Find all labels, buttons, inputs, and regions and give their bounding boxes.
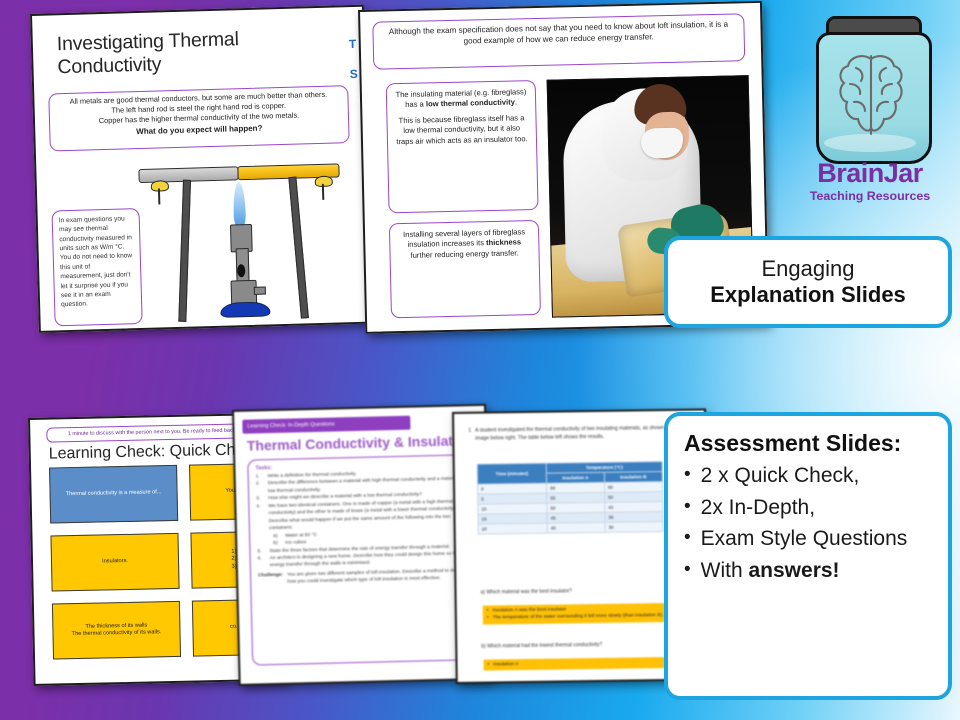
- cell-time: 20: [478, 523, 547, 534]
- callout-assessment-slides: Assessment Slides: • 2 x Quick Check, • …: [664, 412, 952, 700]
- stand-leg-left: [178, 180, 191, 322]
- callout-explanation-slides: Engaging Explanation Slides: [664, 236, 952, 328]
- slide1-title: Investigating Thermal Conductivity: [57, 26, 308, 78]
- slide2-bottom-note: Installing several layers of fibreglass …: [389, 220, 541, 318]
- exam-question-1: 1A student investigated the thermal cond…: [468, 425, 692, 444]
- slide1-side-letters: T S: [349, 29, 359, 89]
- in-depth-task-item: 4.We have two identical containers. One …: [256, 498, 473, 533]
- bunsen-air-hole: [237, 264, 245, 277]
- drawing-pin-right-stem: [322, 184, 324, 200]
- bullet-dot-icon: •: [684, 463, 691, 488]
- exam-part-a: a) Which material was the best insulator…: [480, 587, 694, 596]
- assessment-heading: Assessment Slides:: [684, 430, 932, 457]
- thermal-conductivity-experiment-diagram: [132, 149, 352, 325]
- slide1-letter-t: T: [349, 29, 358, 59]
- slide1-letter-s: S: [349, 59, 358, 89]
- bullet-dot-icon: •: [684, 558, 691, 583]
- th-time: Time (minutes): [477, 463, 546, 484]
- slide-investigating-thermal-conductivity[interactable]: Investigating Thermal Conductivity T S A…: [30, 5, 373, 333]
- quick-check-title: Learning Check: Quick Check: [49, 441, 261, 463]
- results-table: Time (minutes) Temperature (°C) Insulati…: [477, 461, 664, 535]
- drawing-pin-left-stem: [158, 188, 160, 204]
- quick-check-cell-5[interactable]: The thickness of its wallsThe thermal co…: [52, 601, 181, 660]
- bunsen-flame-icon: [233, 182, 246, 228]
- task-number: 4.: [256, 503, 265, 533]
- in-depth-challenge: Challenge:You are given two different sa…: [258, 567, 474, 587]
- callout-explanation-line2: Explanation Slides: [710, 282, 906, 308]
- slide2-mid-note-2: This is because fibreglass itself has a …: [395, 113, 528, 147]
- question-number: 1: [468, 428, 471, 444]
- slide2-bot-part-3: further reducing energy transfer.: [410, 248, 518, 259]
- task-text: We have two identical containers. One is…: [268, 498, 473, 533]
- in-depth-task-box: Tasks: 1.Write a definition for thermal …: [247, 454, 484, 666]
- task-number: 6.: [258, 555, 266, 570]
- answer-bullet: •: [487, 608, 489, 615]
- bullet-dot-icon: •: [684, 526, 691, 551]
- in-depth-title: Thermal Conductivity & Insulation: [247, 432, 474, 454]
- cell-a: 40: [547, 522, 605, 533]
- assessment-bullet: • 2x In-Depth,: [684, 495, 932, 521]
- brand-name: BrainJar: [790, 158, 950, 189]
- assessment-bullet-text: With answers!: [701, 558, 840, 584]
- slide2-mid-bold: low thermal conductivity: [426, 98, 515, 109]
- slide1-statement-box: All metals are good thermal conductors, …: [48, 85, 350, 151]
- answer-bullet: •: [487, 662, 489, 669]
- cell-b: 30: [605, 522, 663, 533]
- challenge-label: Challenge:: [258, 572, 283, 588]
- quick-check-cell-3[interactable]: Insulators.: [50, 533, 179, 592]
- brainjar-logo: BrainJar Teaching Resources: [790, 6, 950, 232]
- assessment-bullet-text: Exam Style Questions: [701, 526, 908, 552]
- slide2-bot-bold: thickness: [486, 238, 521, 248]
- challenge-text: You are given two different samples of l…: [287, 567, 474, 586]
- assessment-bullet-text: 2x In-Depth,: [701, 495, 815, 521]
- assessment-bullet: • 2 x Quick Check,: [684, 463, 932, 489]
- callout-explanation-line1: Engaging: [762, 256, 855, 282]
- stand-leg-right: [288, 177, 309, 319]
- slide2-top-note: Although the exam specification does not…: [372, 13, 745, 69]
- slide2-mid-part-3: .: [515, 98, 517, 107]
- in-depth-band: Learning Check: In-Depth Questions: [242, 416, 410, 434]
- assessment-bullet: • With answers!: [684, 558, 932, 584]
- quick-check-cell-1[interactable]: Thermal conductivity is a measure of...: [49, 465, 178, 524]
- question-text: A student investigated the thermal condu…: [475, 425, 692, 444]
- assessment-bullet-text: 2 x Quick Check,: [701, 463, 860, 489]
- table-row: 204030: [478, 522, 663, 535]
- bullet-dot-icon: •: [684, 495, 691, 520]
- brand-tagline: Teaching Resources: [790, 189, 950, 203]
- answer-line: Insulation A: [493, 661, 518, 669]
- bunsen-gas-inlet: [254, 287, 266, 295]
- slide1-statement-question: What do you expect will happen?: [136, 123, 262, 136]
- answer-bullet: •: [487, 615, 489, 622]
- poster-canvas: Investigating Thermal Conductivity T S A…: [0, 0, 960, 720]
- answer-line: The temperature of the water surrounding…: [493, 612, 671, 622]
- assessment-bullet: • Exam Style Questions: [684, 526, 932, 552]
- brain-icon: [836, 50, 906, 140]
- task-number: 2.: [256, 481, 264, 496]
- assessment-bullet-prefix: With: [701, 559, 749, 582]
- slide2-middle-note: The insulating material (e.g. fibreglass…: [386, 80, 539, 213]
- slide1-exam-note: In exam questions you may see thermal co…: [51, 208, 142, 326]
- bunsen-base: [220, 301, 270, 317]
- quick-check-discussion-strip: 1 minute to discuss with the person next…: [46, 423, 258, 442]
- assessment-bullet-bold: answers!: [749, 559, 840, 582]
